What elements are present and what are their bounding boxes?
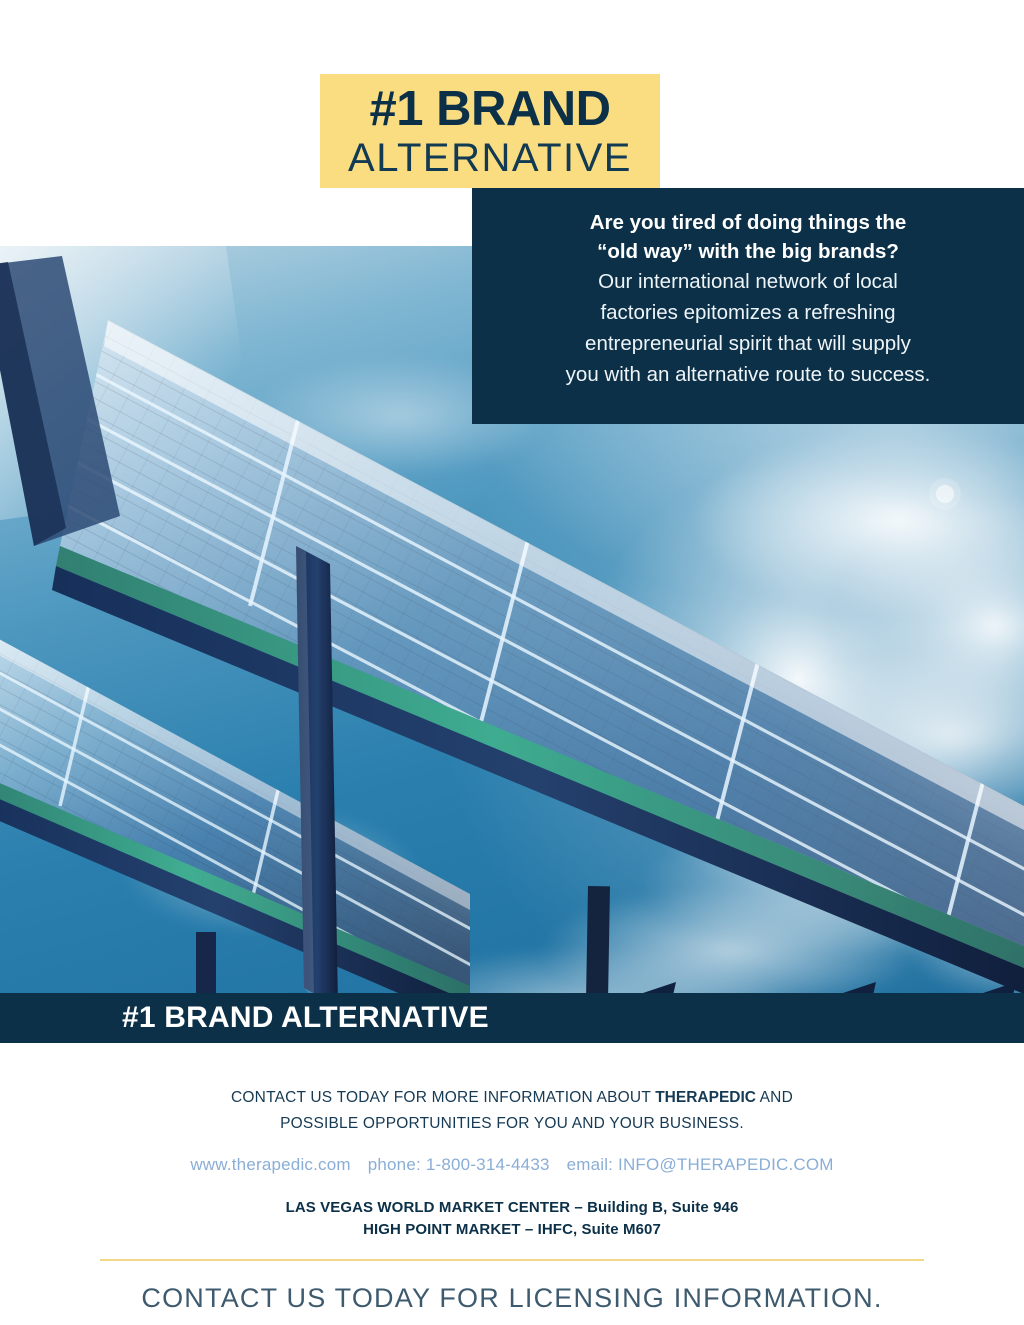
copy-body-line2: factories epitomizes a refreshing [502,298,994,328]
copy-body-line4: you with an alternative route to success… [502,360,994,390]
footer-address-line1: LAS VEGAS WORLD MARKET CENTER – Building… [0,1197,1024,1219]
footer: CONTACT US TODAY FOR MORE INFORMATION AB… [0,1043,1024,1325]
footer-cta: CONTACT US TODAY FOR MORE INFORMATION AB… [0,1085,1024,1137]
copy-bold-line1: Are you tired of doing things the [502,208,994,237]
footer-divider [100,1259,924,1261]
headline-copy-panel: Are you tired of doing things the “old w… [472,188,1024,424]
footer-address-line2: HIGH POINT MARKET – IHFC, Suite M607 [0,1219,1024,1241]
footer-cta-line2: POSSIBLE OPPORTUNITIES FOR YOU AND YOUR … [280,1115,744,1132]
ad-page: #1 BRAND ALTERNATIVE Are you tired of do… [0,0,1024,1325]
footer-cta-post: AND [756,1089,793,1106]
footer-tagline: CONTACT US TODAY FOR LICENSING INFORMATI… [0,1283,1024,1314]
copy-body-line1: Our international network of local [502,267,994,297]
hero-title-box: #1 BRAND ALTERNATIVE [320,74,660,188]
footer-phone[interactable]: phone: 1-800-314-4433 [368,1155,550,1174]
footer-addresses: LAS VEGAS WORLD MARKET CENTER – Building… [0,1197,1024,1241]
copy-bold-line2: “old way” with the big brands? [502,237,994,266]
footer-website-link[interactable]: www.therapedic.com [190,1155,350,1174]
footer-contact-row: www.therapedic.com phone: 1-800-314-4433… [0,1155,1024,1175]
footer-cta-pre: CONTACT US TODAY FOR MORE INFORMATION AB… [231,1089,655,1106]
brand-banner: #1 BRAND ALTERNATIVE [0,993,1024,1043]
hero-title-line1: #1 BRAND [320,74,660,136]
footer-email-link[interactable]: email: INFO@THERAPEDIC.COM [567,1155,834,1174]
hero-title-line2: ALTERNATIVE [320,136,660,180]
footer-brand-name: THERAPEDIC [655,1089,756,1106]
brand-banner-text: #1 BRAND ALTERNATIVE [122,999,489,1037]
copy-body-line3: entrepreneurial spirit that will supply [502,329,994,359]
